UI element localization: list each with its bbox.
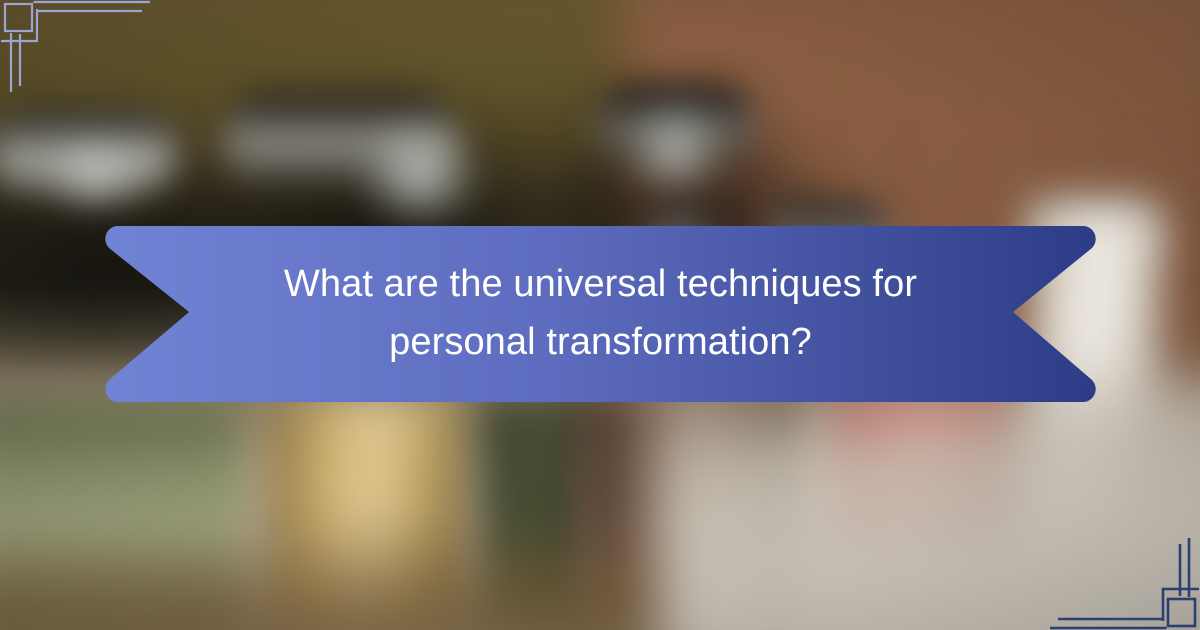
headline-line-1: What are the universal techniques for	[284, 256, 917, 314]
headline-text: What are the universal techniques for pe…	[103, 224, 1098, 404]
headline-line-2: personal transformation?	[389, 314, 812, 372]
question-card: What are the universal techniques for pe…	[0, 0, 1200, 630]
headline-ribbon: What are the universal techniques for pe…	[103, 224, 1098, 404]
